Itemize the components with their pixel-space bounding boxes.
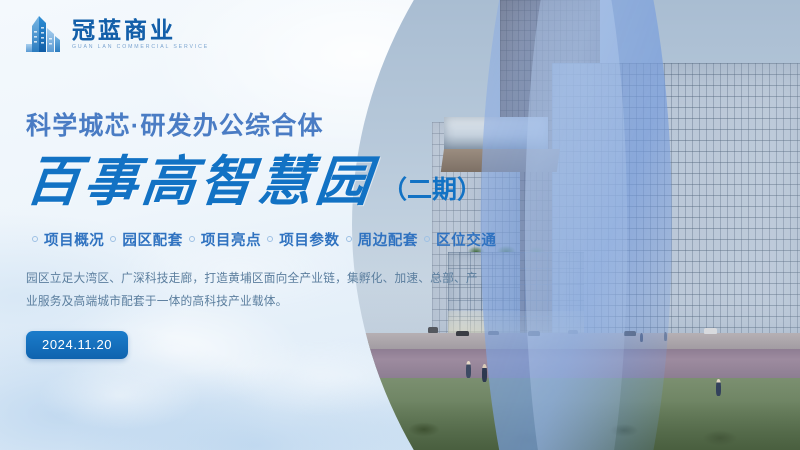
nav-item-location-transport[interactable]: 区位交通 [436,229,496,250]
nav-item-surroundings[interactable]: 周边配套 [358,229,418,250]
section-nav: 项目概况 园区配套 项目亮点 项目参数 周边配套 区位交通 [26,229,496,250]
bullet-icon [189,236,195,242]
brand-name-cn: 冠蓝商业 [72,18,209,42]
pedestrian [716,379,721,396]
hero-phase-label: （二期） [382,170,482,206]
hero-content: 科学城芯·研发办公综合体 百事高智慧园 （二期） 项目概况 园区配套 项目亮点 … [26,112,496,359]
nav-item-park-facilities[interactable]: 园区配套 [122,229,182,250]
bullet-icon [32,236,38,242]
nav-item-parameters[interactable]: 项目参数 [279,229,339,250]
vehicle [704,328,717,334]
bullet-icon [110,236,116,242]
bullet-icon [346,236,352,242]
date-badge[interactable]: 2024.11.20 [26,331,128,359]
hero-subtitle: 科学城芯·研发办公综合体 [26,112,496,141]
hero-title-row: 百事高智慧园 （二期） [26,155,496,209]
presentation-slide: 冠蓝商业 GUAN LAN COMMERCIAL SERVICE 科学城芯·研发… [0,0,800,450]
brand-name-en: GUAN LAN COMMERCIAL SERVICE [72,44,209,50]
page-title: 百事高智慧园 [23,155,377,209]
pedestrian [482,364,487,382]
nav-item-overview[interactable]: 项目概况 [44,229,104,250]
brand-logo[interactable]: 冠蓝商业 GUAN LAN COMMERCIAL SERVICE [26,14,209,54]
bullet-icon [424,236,430,242]
pedestrian [466,361,471,378]
nav-item-highlights[interactable]: 项目亮点 [201,229,261,250]
hero-description: 园区立足大湾区、广深科技走廊，打造黄埔区面向全产业链，集孵化、加速、总部、产业服… [26,268,478,314]
bullet-icon [267,236,273,242]
building-skyline-icon [26,14,64,54]
